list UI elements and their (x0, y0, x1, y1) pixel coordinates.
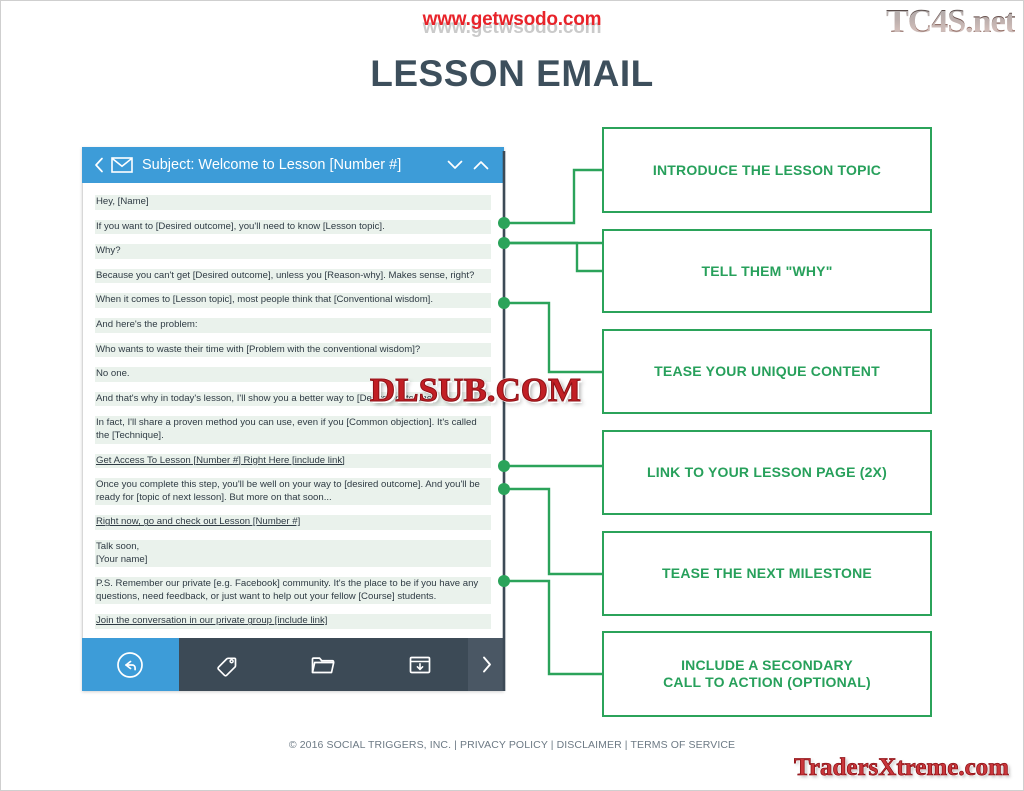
chevron-up-icon[interactable] (468, 160, 494, 170)
email-postscript: P.S. Remember our private [e.g. Facebook… (95, 577, 491, 604)
email-paragraph: If you want to [Desired outcome], you'll… (95, 220, 491, 235)
watermark-top-center-red: www.getwsodo.com (423, 9, 602, 30)
callout-secondary-cta[interactable]: INCLUDE A SECONDARY CALL TO ACTION (OPTI… (602, 631, 932, 717)
watermark-tradersxtreme: TradersXtreme.com (794, 754, 1009, 782)
watermark-top-center-ghost: www.getwsodo.com (1, 17, 1023, 39)
email-preview-card: Subject: Welcome to Lesson [Number #] He… (82, 147, 504, 691)
archive-download-icon[interactable] (372, 638, 469, 691)
chevron-right-icon[interactable] (468, 638, 504, 691)
connector-path-2b (504, 243, 602, 271)
email-body: Hey, [Name] If you want to [Desired outc… (82, 183, 504, 638)
email-paragraph: Once you complete this step, you'll be w… (95, 478, 491, 505)
callout-introduce-lesson-topic[interactable]: INTRODUCE THE LESSON TOPIC (602, 127, 932, 213)
chevron-left-icon[interactable] (92, 157, 106, 173)
envelope-icon (111, 157, 133, 173)
callout-link-lesson-page[interactable]: LINK TO YOUR LESSON PAGE (2X) (602, 430, 932, 515)
callout-tease-unique-content[interactable]: TEASE YOUR UNIQUE CONTENT (602, 329, 932, 414)
tag-icon[interactable] (179, 638, 276, 691)
email-signoff: Talk soon, [Your name] (95, 540, 491, 567)
email-subject-text: Subject: Welcome to Lesson [Number #] (142, 157, 442, 173)
reply-icon[interactable] (82, 638, 179, 691)
email-link-lesson-access[interactable]: Get Access To Lesson [Number #] Right He… (95, 454, 491, 469)
email-link-private-group[interactable]: Join the conversation in our private gro… (95, 614, 491, 629)
email-toolbar (82, 638, 504, 691)
callout-tease-next-milestone[interactable]: TEASE THE NEXT MILESTONE (602, 531, 932, 616)
email-paragraph: When it comes to [Lesson topic], most pe… (95, 293, 491, 308)
email-header-bar: Subject: Welcome to Lesson [Number #] (82, 147, 504, 183)
folder-icon[interactable] (275, 638, 372, 691)
footer-legal-text: © 2016 SOCIAL TRIGGERS, INC. | PRIVACY P… (1, 739, 1023, 751)
connector-path-5 (504, 489, 602, 574)
connector-path-6 (504, 581, 602, 674)
connector-path-1 (504, 170, 602, 223)
watermark-tc4s: TC4S.net (886, 3, 1015, 41)
infographic-page: LESSON EMAIL Subject: Welcome to Lesson … (0, 0, 1024, 791)
page-title: LESSON EMAIL (1, 53, 1023, 95)
email-paragraph: Hey, [Name] (95, 195, 491, 210)
email-paragraph: In fact, I'll share a proven method you … (95, 416, 491, 443)
email-paragraph: Because you can't get [Desired outcome],… (95, 269, 491, 284)
watermark-top-center: www.getwsodo.com www.getwsodo.com (1, 9, 1023, 31)
connector-path-3 (504, 303, 602, 372)
chevron-down-icon[interactable] (442, 160, 468, 170)
email-paragraph: And here's the problem: (95, 318, 491, 333)
watermark-dlsub: DLSUB.COM (370, 372, 581, 410)
email-paragraph: Who wants to waste their time with [Prob… (95, 343, 491, 358)
callout-tell-them-why[interactable]: TELL THEM "WHY" (602, 229, 932, 313)
email-paragraph: Why? (95, 244, 491, 259)
email-link-check-lesson[interactable]: Right now, go and check out Lesson [Numb… (95, 515, 491, 530)
